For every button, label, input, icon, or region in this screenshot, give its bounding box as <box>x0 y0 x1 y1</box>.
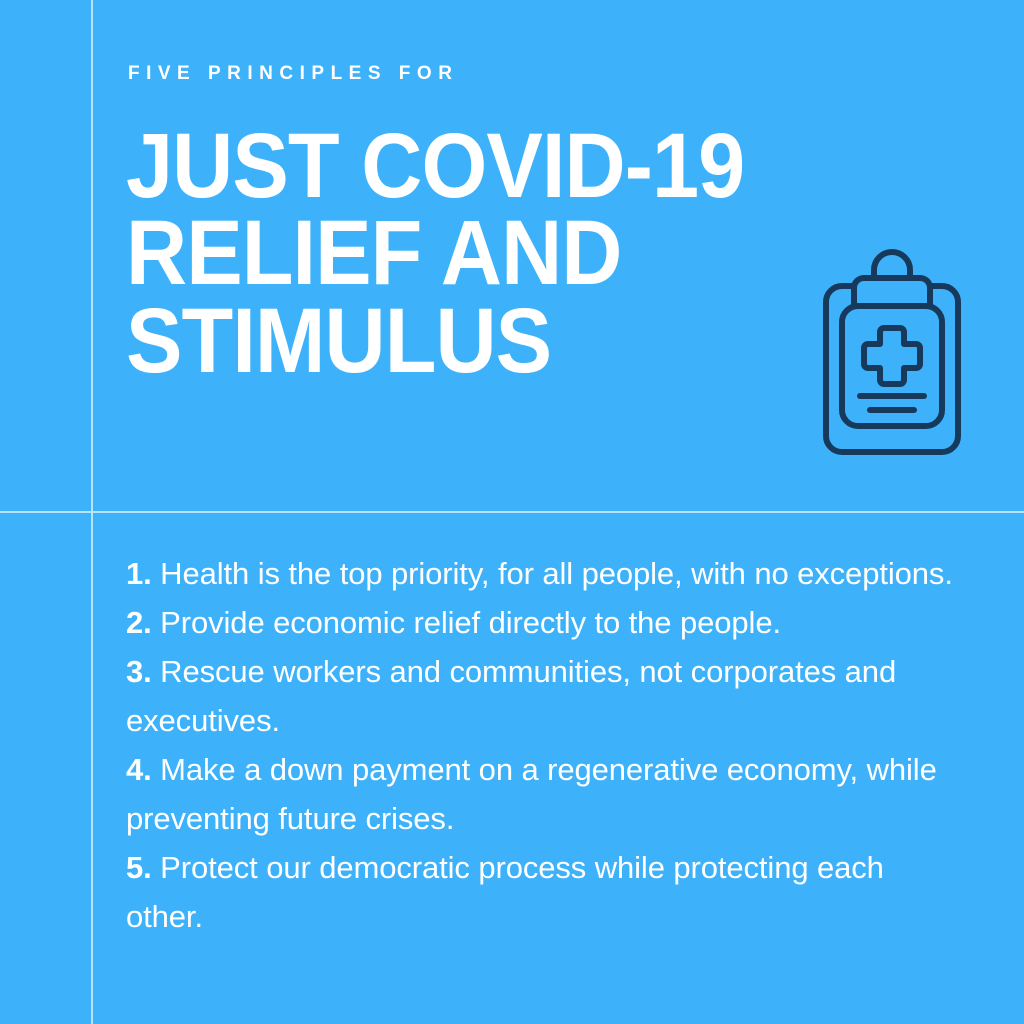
list-item-text: Provide economic relief directly to the … <box>160 605 781 640</box>
list-item-text: Protect our democratic process while pro… <box>126 850 884 934</box>
headline-line-2: RELIEF AND <box>126 210 770 297</box>
medical-clipboard-icon <box>812 228 972 468</box>
list-item: 3. Rescue workers and communities, not c… <box>126 647 956 745</box>
list-item-text: Health is the top priority, for all peop… <box>160 556 953 591</box>
principles-section: 1. Health is the top priority, for all p… <box>0 513 1024 1024</box>
list-item: 1. Health is the top priority, for all p… <box>126 549 956 598</box>
header-section: FIVE PRINCIPLES FOR JUST COVID-19 RELIEF… <box>0 0 1024 512</box>
list-item: 2. Provide economic relief directly to t… <box>126 598 956 647</box>
list-item: 5. Protect our democratic process while … <box>126 843 956 941</box>
list-item-number: 3. <box>126 654 152 689</box>
headline-line-3: STIMULUS <box>126 298 770 385</box>
list-item-text: Rescue workers and communities, not corp… <box>126 654 896 738</box>
list-item-text: Make a down payment on a regenerative ec… <box>126 752 937 836</box>
list-item-number: 4. <box>126 752 152 787</box>
list-item-number: 5. <box>126 850 152 885</box>
poster-canvas: FIVE PRINCIPLES FOR JUST COVID-19 RELIEF… <box>0 0 1024 1024</box>
list-item-number: 2. <box>126 605 152 640</box>
list-item: 4. Make a down payment on a regenerative… <box>126 745 956 843</box>
eyebrow-label: FIVE PRINCIPLES FOR <box>128 64 458 83</box>
list-item-number: 1. <box>126 556 152 591</box>
principles-list: 1. Health is the top priority, for all p… <box>126 549 956 941</box>
headline-line-1: JUST COVID-19 <box>126 123 770 210</box>
page-title: JUST COVID-19 RELIEF AND STIMULUS <box>126 123 770 385</box>
